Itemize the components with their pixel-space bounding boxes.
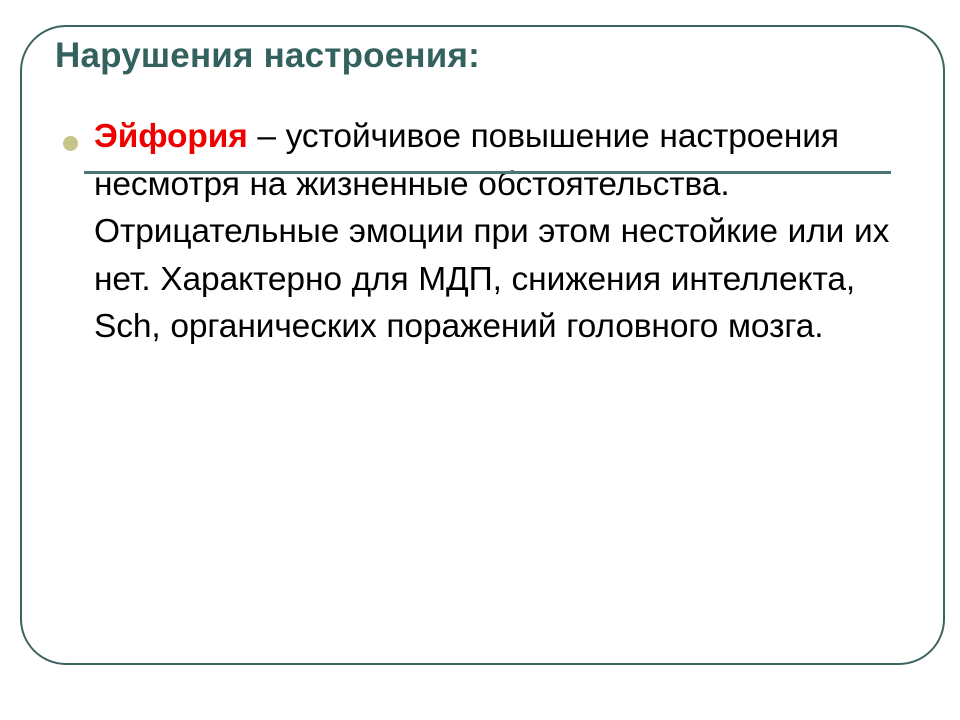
page-title: Нарушения настроения: — [55, 36, 480, 76]
keyword-euphoria: Эйфория — [94, 118, 248, 155]
list-item-text: Эйфория – устойчивое повышение настроени… — [94, 113, 916, 351]
keyword-separator: – — [248, 118, 286, 155]
slide-body: Эйфория – устойчивое повышение настроени… — [56, 113, 916, 351]
list-item: Эйфория – устойчивое повышение настроени… — [56, 113, 916, 351]
slide-canvas: Нарушения настроения: Эйфория – устойчив… — [0, 0, 960, 720]
horizontal-rule-divider — [84, 171, 891, 174]
bullet-dot-icon — [63, 136, 78, 151]
